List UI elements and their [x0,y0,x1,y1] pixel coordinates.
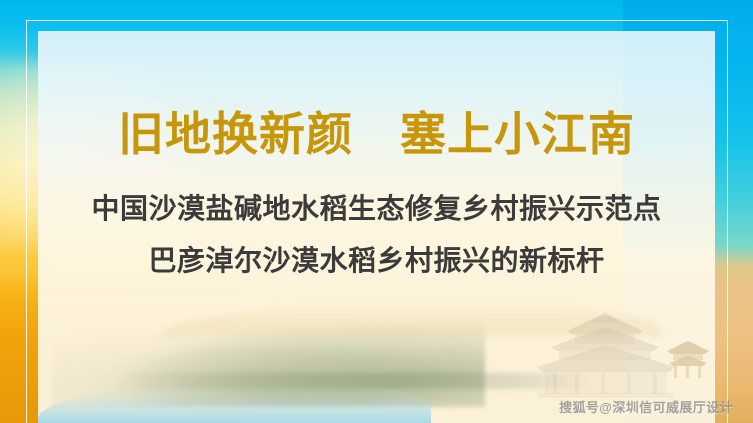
page-title: 旧地换新颜 塞上小江南 [38,31,715,160]
temple-silhouette-icon [531,309,681,399]
text-content-block: 旧地换新颜 塞上小江南 中国沙漠盐碱地水稻生态修复乡村振兴示范点 巴彦淖尔沙漠水… [38,31,715,280]
content-panel: 旧地换新颜 塞上小江南 中国沙漠盐碱地水稻生态修复乡村振兴示范点 巴彦淖尔沙漠水… [38,31,715,423]
watermark-credit: 搜狐号@深圳信可威展厅设计 [559,397,733,416]
subtitle-line-1: 中国沙漠盐碱地水稻生态修复乡村振兴示范点 [38,190,715,228]
subtitle-group: 中国沙漠盐碱地水稻生态修复乡村振兴示范点 巴彦淖尔沙漠水稻乡村振兴的新标杆 [38,190,715,280]
promo-slide: 旧地换新颜 塞上小江南 中国沙漠盐碱地水稻生态修复乡村振兴示范点 巴彦淖尔沙漠水… [0,0,753,423]
pavilion-silhouette-icon [665,339,711,379]
subtitle-line-2: 巴彦淖尔沙漠水稻乡村振兴的新标杆 [38,242,715,280]
